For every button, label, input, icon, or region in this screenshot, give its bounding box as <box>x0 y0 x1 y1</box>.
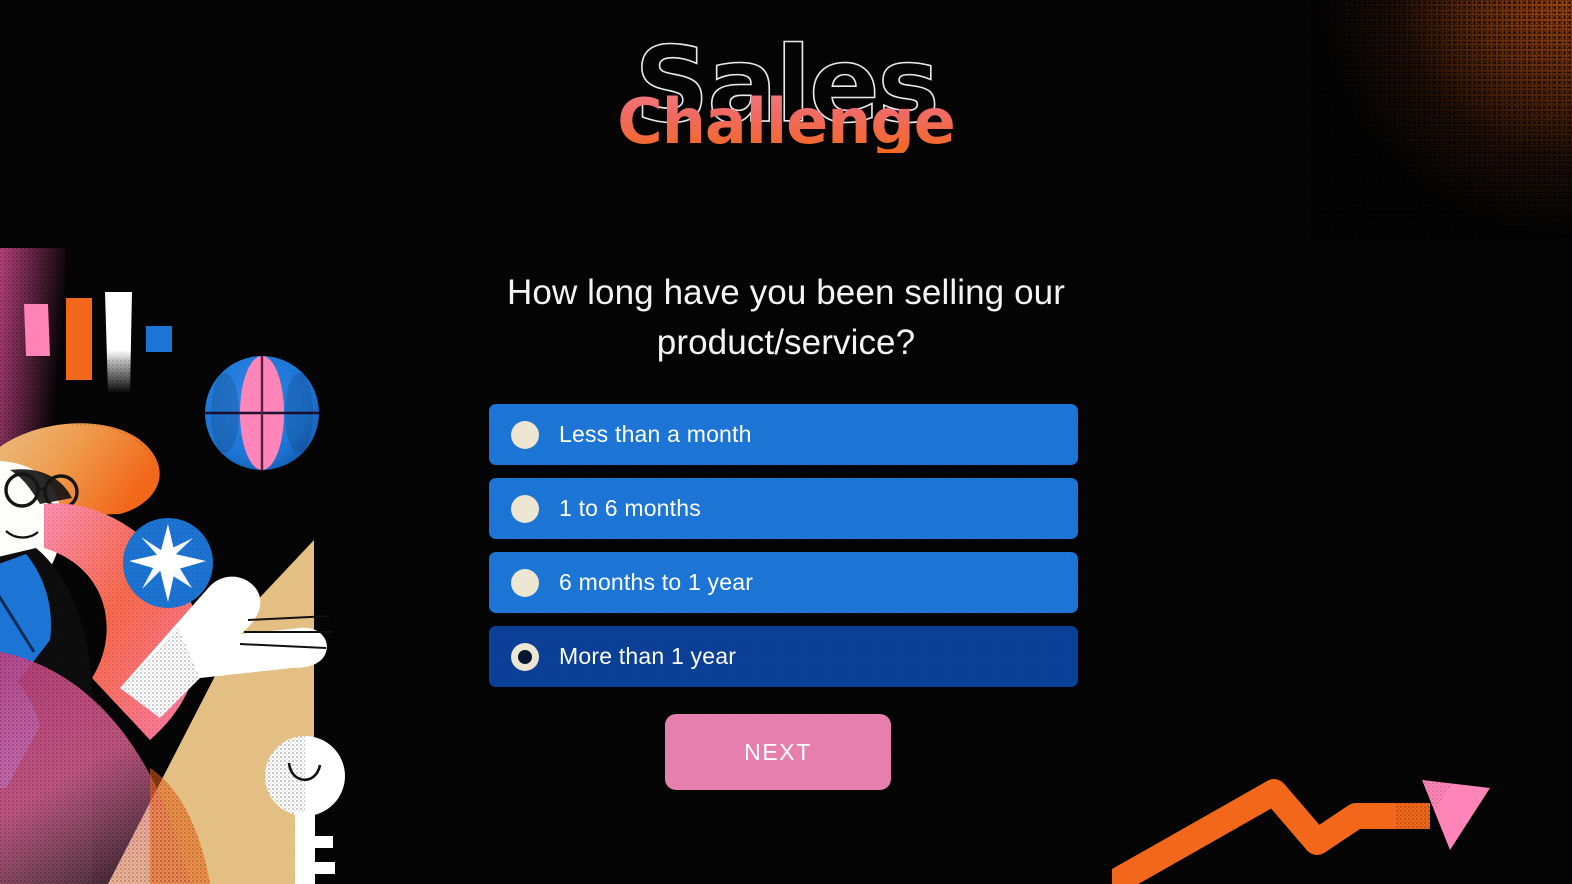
striped-sphere <box>205 356 319 470</box>
color-bars <box>24 292 172 392</box>
option-label: More than 1 year <box>559 643 736 670</box>
radio-icon-selected[interactable] <box>511 643 539 671</box>
growth-arrow-decoration <box>1112 754 1572 884</box>
left-illustration <box>0 248 360 884</box>
title-challenge: Challenge <box>0 91 1572 153</box>
challenge-screen: Sales Challenge How long have you been s… <box>0 0 1572 884</box>
question-text: How long have you been selling our produ… <box>471 268 1101 368</box>
radio-icon[interactable] <box>511 569 539 597</box>
reaching-hand <box>120 577 332 718</box>
radio-icon[interactable] <box>511 421 539 449</box>
option-row[interactable]: Less than a month <box>489 404 1078 465</box>
next-button[interactable]: NEXT <box>665 714 891 790</box>
option-label: 6 months to 1 year <box>559 569 753 596</box>
option-row[interactable]: 6 months to 1 year <box>489 552 1078 613</box>
option-row[interactable]: 1 to 6 months <box>489 478 1078 539</box>
character-hair <box>0 423 160 518</box>
option-row[interactable]: More than 1 year <box>489 626 1078 687</box>
answer-options-list: Less than a month 1 to 6 months 6 months… <box>489 404 1078 700</box>
tan-triangle <box>108 540 314 884</box>
key-icon <box>265 736 345 884</box>
star-circle <box>123 518 213 608</box>
radio-icon[interactable] <box>511 495 539 523</box>
character-jacket <box>0 548 92 884</box>
character-scarf <box>44 503 199 740</box>
title-sales: Sales <box>0 36 1572 135</box>
character-face <box>0 461 77 596</box>
pink-grain-edge-top <box>0 248 65 458</box>
corner-grain-decoration <box>1312 0 1572 240</box>
option-label: Less than a month <box>559 421 752 448</box>
page-title: Sales Challenge <box>0 36 1572 153</box>
option-label: 1 to 6 months <box>559 495 701 522</box>
pink-grain-lower <box>0 648 210 884</box>
